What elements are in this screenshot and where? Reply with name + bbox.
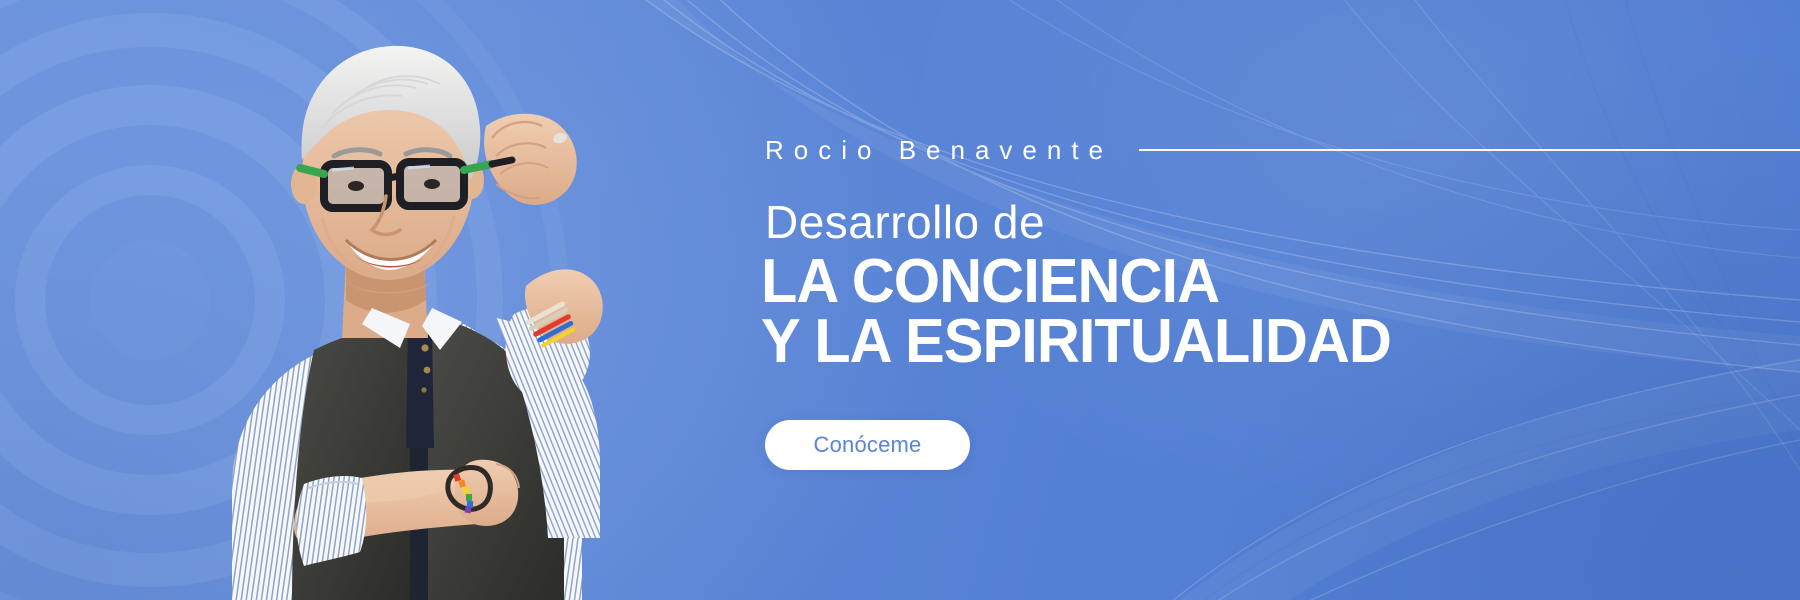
- horizontal-rule: [1139, 149, 1800, 151]
- portrait-image: [196, 18, 616, 600]
- headline-kicker: Desarrollo de: [765, 198, 1045, 248]
- headline-line-1: LA CONCIENCIA: [761, 252, 1529, 312]
- hero-banner: Rocio Benavente Desarrollo de LA CONCIEN…: [0, 0, 1800, 600]
- author-name: Rocio Benavente: [765, 137, 1113, 163]
- conoceme-button[interactable]: Conóceme: [765, 420, 970, 470]
- headline: LA CONCIENCIA Y LA ESPIRITUALIDAD: [761, 252, 1561, 372]
- hero-content: Rocio Benavente Desarrollo de LA CONCIEN…: [765, 0, 1800, 600]
- eyebrow-row: Rocio Benavente: [765, 132, 1800, 168]
- headline-line-2: Y LA ESPIRITUALIDAD: [761, 312, 1529, 372]
